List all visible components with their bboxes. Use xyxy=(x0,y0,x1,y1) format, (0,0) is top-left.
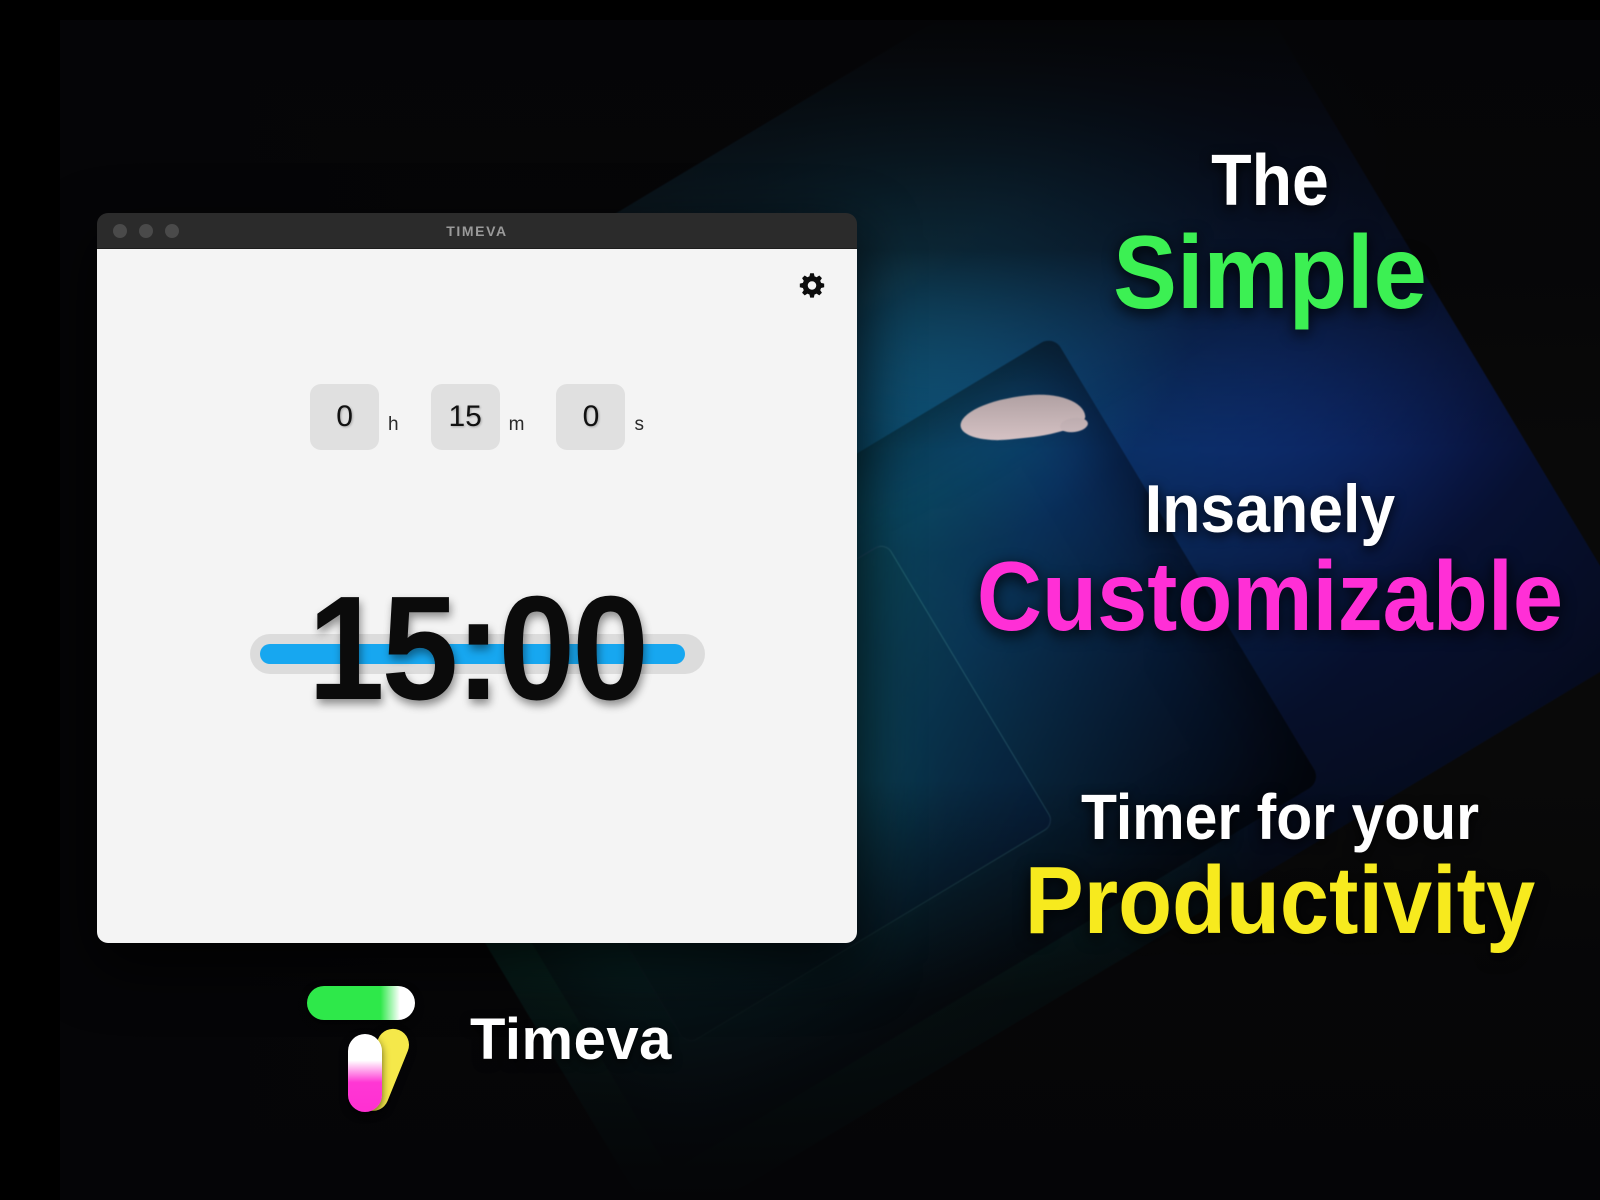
app-window: TIMEVA 0 h 15 xyxy=(97,213,857,943)
tagline-3-top: Timer for your xyxy=(986,785,1575,849)
hours-unit-label: h xyxy=(388,414,399,450)
hours-group: 0 h xyxy=(310,384,399,450)
seconds-input[interactable]: 0 xyxy=(556,384,625,450)
minutes-unit-label: m xyxy=(509,414,525,450)
seconds-group: 0 s xyxy=(556,384,644,450)
minutes-input[interactable]: 15 xyxy=(431,384,500,450)
tagline-customizable: Insanely Customizable xyxy=(966,475,1573,645)
brand-lockup: Timeva xyxy=(300,978,672,1100)
minutes-group: 15 m xyxy=(431,384,525,450)
tagline-3-highlight: Productivity xyxy=(986,853,1575,949)
window-title: TIMEVA xyxy=(97,223,857,239)
hours-input[interactable]: 0 xyxy=(310,384,379,450)
settings-button[interactable] xyxy=(793,271,831,309)
brand-wordmark: Timeva xyxy=(470,1006,672,1073)
duration-inputs: 0 h 15 m 0 s xyxy=(97,384,857,450)
gear-icon xyxy=(795,271,829,310)
window-titlebar[interactable]: TIMEVA xyxy=(97,213,857,249)
logo-bar-vertical xyxy=(348,1034,382,1112)
timeva-logo-icon xyxy=(300,978,418,1100)
seconds-unit-label: s xyxy=(634,414,644,450)
tagline-2-highlight: Customizable xyxy=(966,547,1573,645)
promo-stage: TIMEVA 0 h 15 xyxy=(60,20,1600,1200)
tagline-1-highlight: Simple xyxy=(985,221,1555,325)
tagline-productivity: Timer for your Productivity xyxy=(986,785,1575,949)
tagline-simple: The Simple xyxy=(985,145,1555,325)
outer-frame: TIMEVA 0 h 15 xyxy=(0,0,1600,1200)
window-body: 0 h 15 m 0 s 15:00 xyxy=(97,249,857,943)
timer-area: 15:00 xyxy=(97,574,857,734)
timer-display[interactable]: 15:00 xyxy=(124,574,831,724)
logo-bar-horizontal xyxy=(307,986,415,1020)
tagline-2-top: Insanely xyxy=(966,475,1573,543)
tagline-1-top: The xyxy=(985,145,1555,217)
